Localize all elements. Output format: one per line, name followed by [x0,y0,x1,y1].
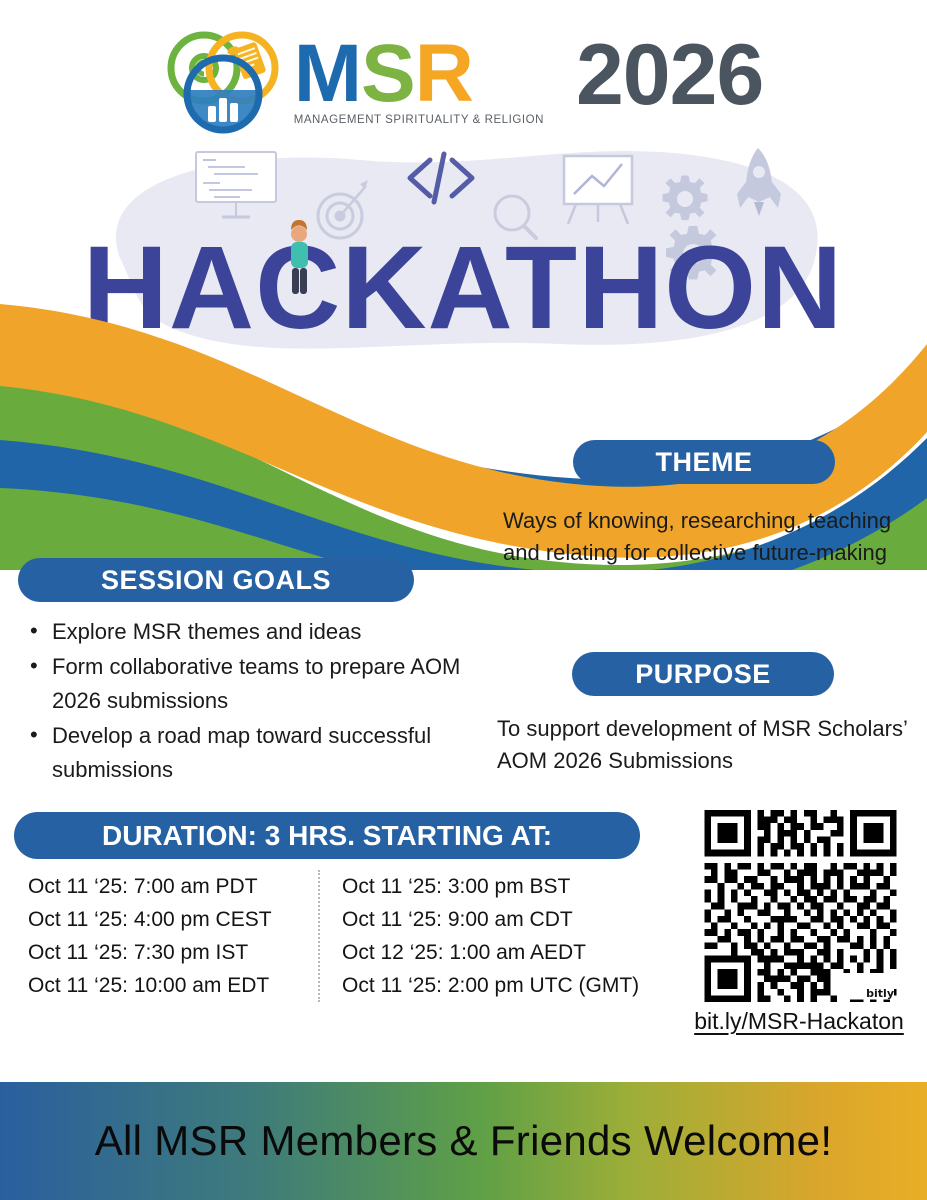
brand-letter-s: S [361,28,415,119]
list-item: Develop a road map toward successful sub… [22,719,462,787]
qr-short-link[interactable]: bit.ly/MSR-Hackaton [668,1008,927,1035]
time-entry: Oct 11 ‘25: 3:00 pm BST [342,870,658,903]
footer-welcome-text: All MSR Members & Friends Welcome! [95,1117,833,1165]
theme-badge: THEME [573,440,835,484]
time-entry: Oct 12 ‘25: 1:00 am AEDT [342,936,658,969]
qr-code-icon[interactable]: bitly [703,810,898,1002]
timezone-column-left: Oct 11 ‘25: 7:00 am PDT Oct 11 ‘25: 4:00… [28,870,318,1002]
event-year: 2026 [576,37,763,114]
purpose-badge: PURPOSE [572,652,834,696]
brand-letter-m: M [294,28,361,119]
session-goals-list: Explore MSR themes and ideas Form collab… [22,615,462,788]
header: MSR MANAGEMENT SPIRITUALITY & RELIGION 2… [0,22,927,142]
session-goals-badge: SESSION GOALS [18,558,414,602]
brand-letter-r: R [415,28,473,119]
theme-body-text: Ways of knowing, researching, teaching a… [503,505,913,569]
time-entry: Oct 11 ‘25: 4:00 pm CEST [28,903,318,936]
brand-wordmark: MSR MANAGEMENT SPIRITUALITY & RELIGION [294,38,544,125]
timezone-column-right: Oct 11 ‘25: 3:00 pm BST Oct 11 ‘25: 9:00… [318,870,658,1002]
timezone-table: Oct 11 ‘25: 7:00 am PDT Oct 11 ‘25: 4:00… [28,870,668,1002]
list-item: Explore MSR themes and ideas [22,615,462,649]
time-entry: Oct 11 ‘25: 7:00 am PDT [28,870,318,903]
list-item: Form collaborative teams to prepare AOM … [22,650,462,718]
msr-circles-logo-icon [164,28,282,136]
gear-icon [663,176,708,221]
time-entry: Oct 11 ‘25: 2:00 pm UTC (GMT) [342,969,658,1002]
bitly-watermark: bitly [866,987,894,1000]
time-entry: Oct 11 ‘25: 7:30 pm IST [28,936,318,969]
brand-tagline: MANAGEMENT SPIRITUALITY & RELIGION [294,114,544,126]
footer-banner: All MSR Members & Friends Welcome! [0,1082,927,1200]
time-entry: Oct 11 ‘25: 9:00 am CDT [342,903,658,936]
time-entry: Oct 11 ‘25: 10:00 am EDT [28,969,318,1002]
duration-badge: DURATION: 3 HRS. STARTING AT: [14,812,640,859]
purpose-body-text: To support development of MSR Scholars’ … [497,713,917,777]
